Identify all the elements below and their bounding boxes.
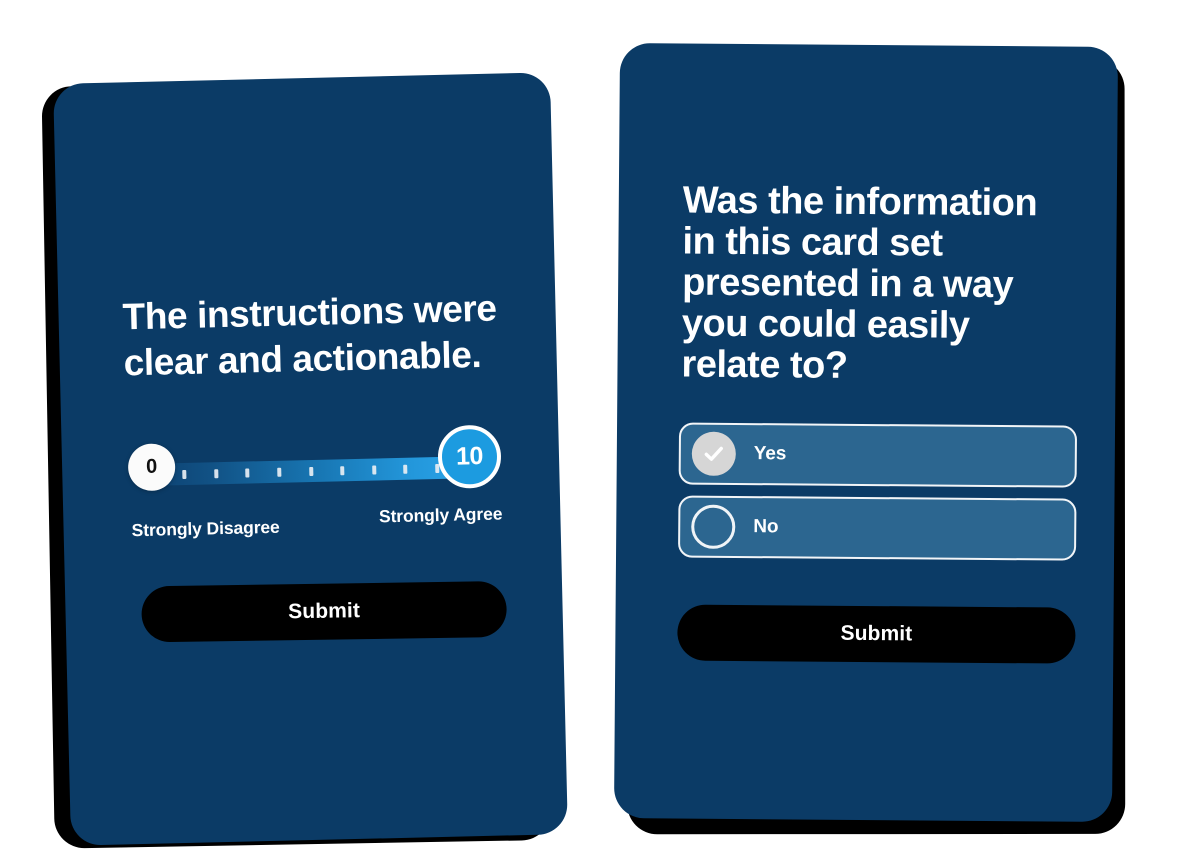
slider-tick bbox=[372, 465, 376, 474]
screen: The instructions were clear and actionab… bbox=[0, 0, 1200, 859]
slider-tick bbox=[182, 469, 186, 478]
submit-button-container: Submit bbox=[141, 579, 507, 644]
option-yes[interactable]: Yes bbox=[679, 423, 1077, 488]
slider-tick bbox=[404, 464, 408, 473]
check-icon[interactable] bbox=[692, 432, 736, 476]
radio-empty-icon[interactable] bbox=[691, 505, 735, 549]
submit-button-container: Submit bbox=[677, 605, 1075, 664]
submit-button[interactable]: Submit bbox=[141, 581, 507, 642]
slider-tick bbox=[340, 466, 344, 475]
slider-tick bbox=[214, 469, 218, 478]
card-surface: The instructions were clear and actionab… bbox=[53, 72, 568, 845]
option-label: No bbox=[753, 516, 778, 538]
rating-slider[interactable]: 0 10 Strongly Disagree Strongly Agree bbox=[127, 430, 503, 559]
option-list: Yes No bbox=[678, 423, 1077, 572]
scale-label-low: Strongly Disagree bbox=[131, 517, 280, 541]
slider-tick bbox=[277, 467, 281, 476]
option-no[interactable]: No bbox=[678, 496, 1076, 561]
page-title: The instructions were clear and actionab… bbox=[122, 285, 523, 387]
submit-button[interactable]: Submit bbox=[677, 605, 1075, 664]
card-surface: Was the information in this card set pre… bbox=[614, 43, 1118, 822]
slider-handle-max[interactable]: 10 bbox=[437, 425, 501, 489]
slider-tick bbox=[245, 468, 249, 477]
yes-no-card: Was the information in this card set pre… bbox=[614, 43, 1118, 822]
option-label: Yes bbox=[754, 443, 787, 465]
rating-card: The instructions were clear and actionab… bbox=[53, 72, 568, 845]
scale-label-high: Strongly Agree bbox=[379, 503, 503, 527]
slider-scale-labels: Strongly Disagree Strongly Agree bbox=[131, 511, 502, 541]
slider-tick bbox=[309, 466, 313, 475]
page-title: Was the information in this card set pre… bbox=[681, 181, 1075, 389]
